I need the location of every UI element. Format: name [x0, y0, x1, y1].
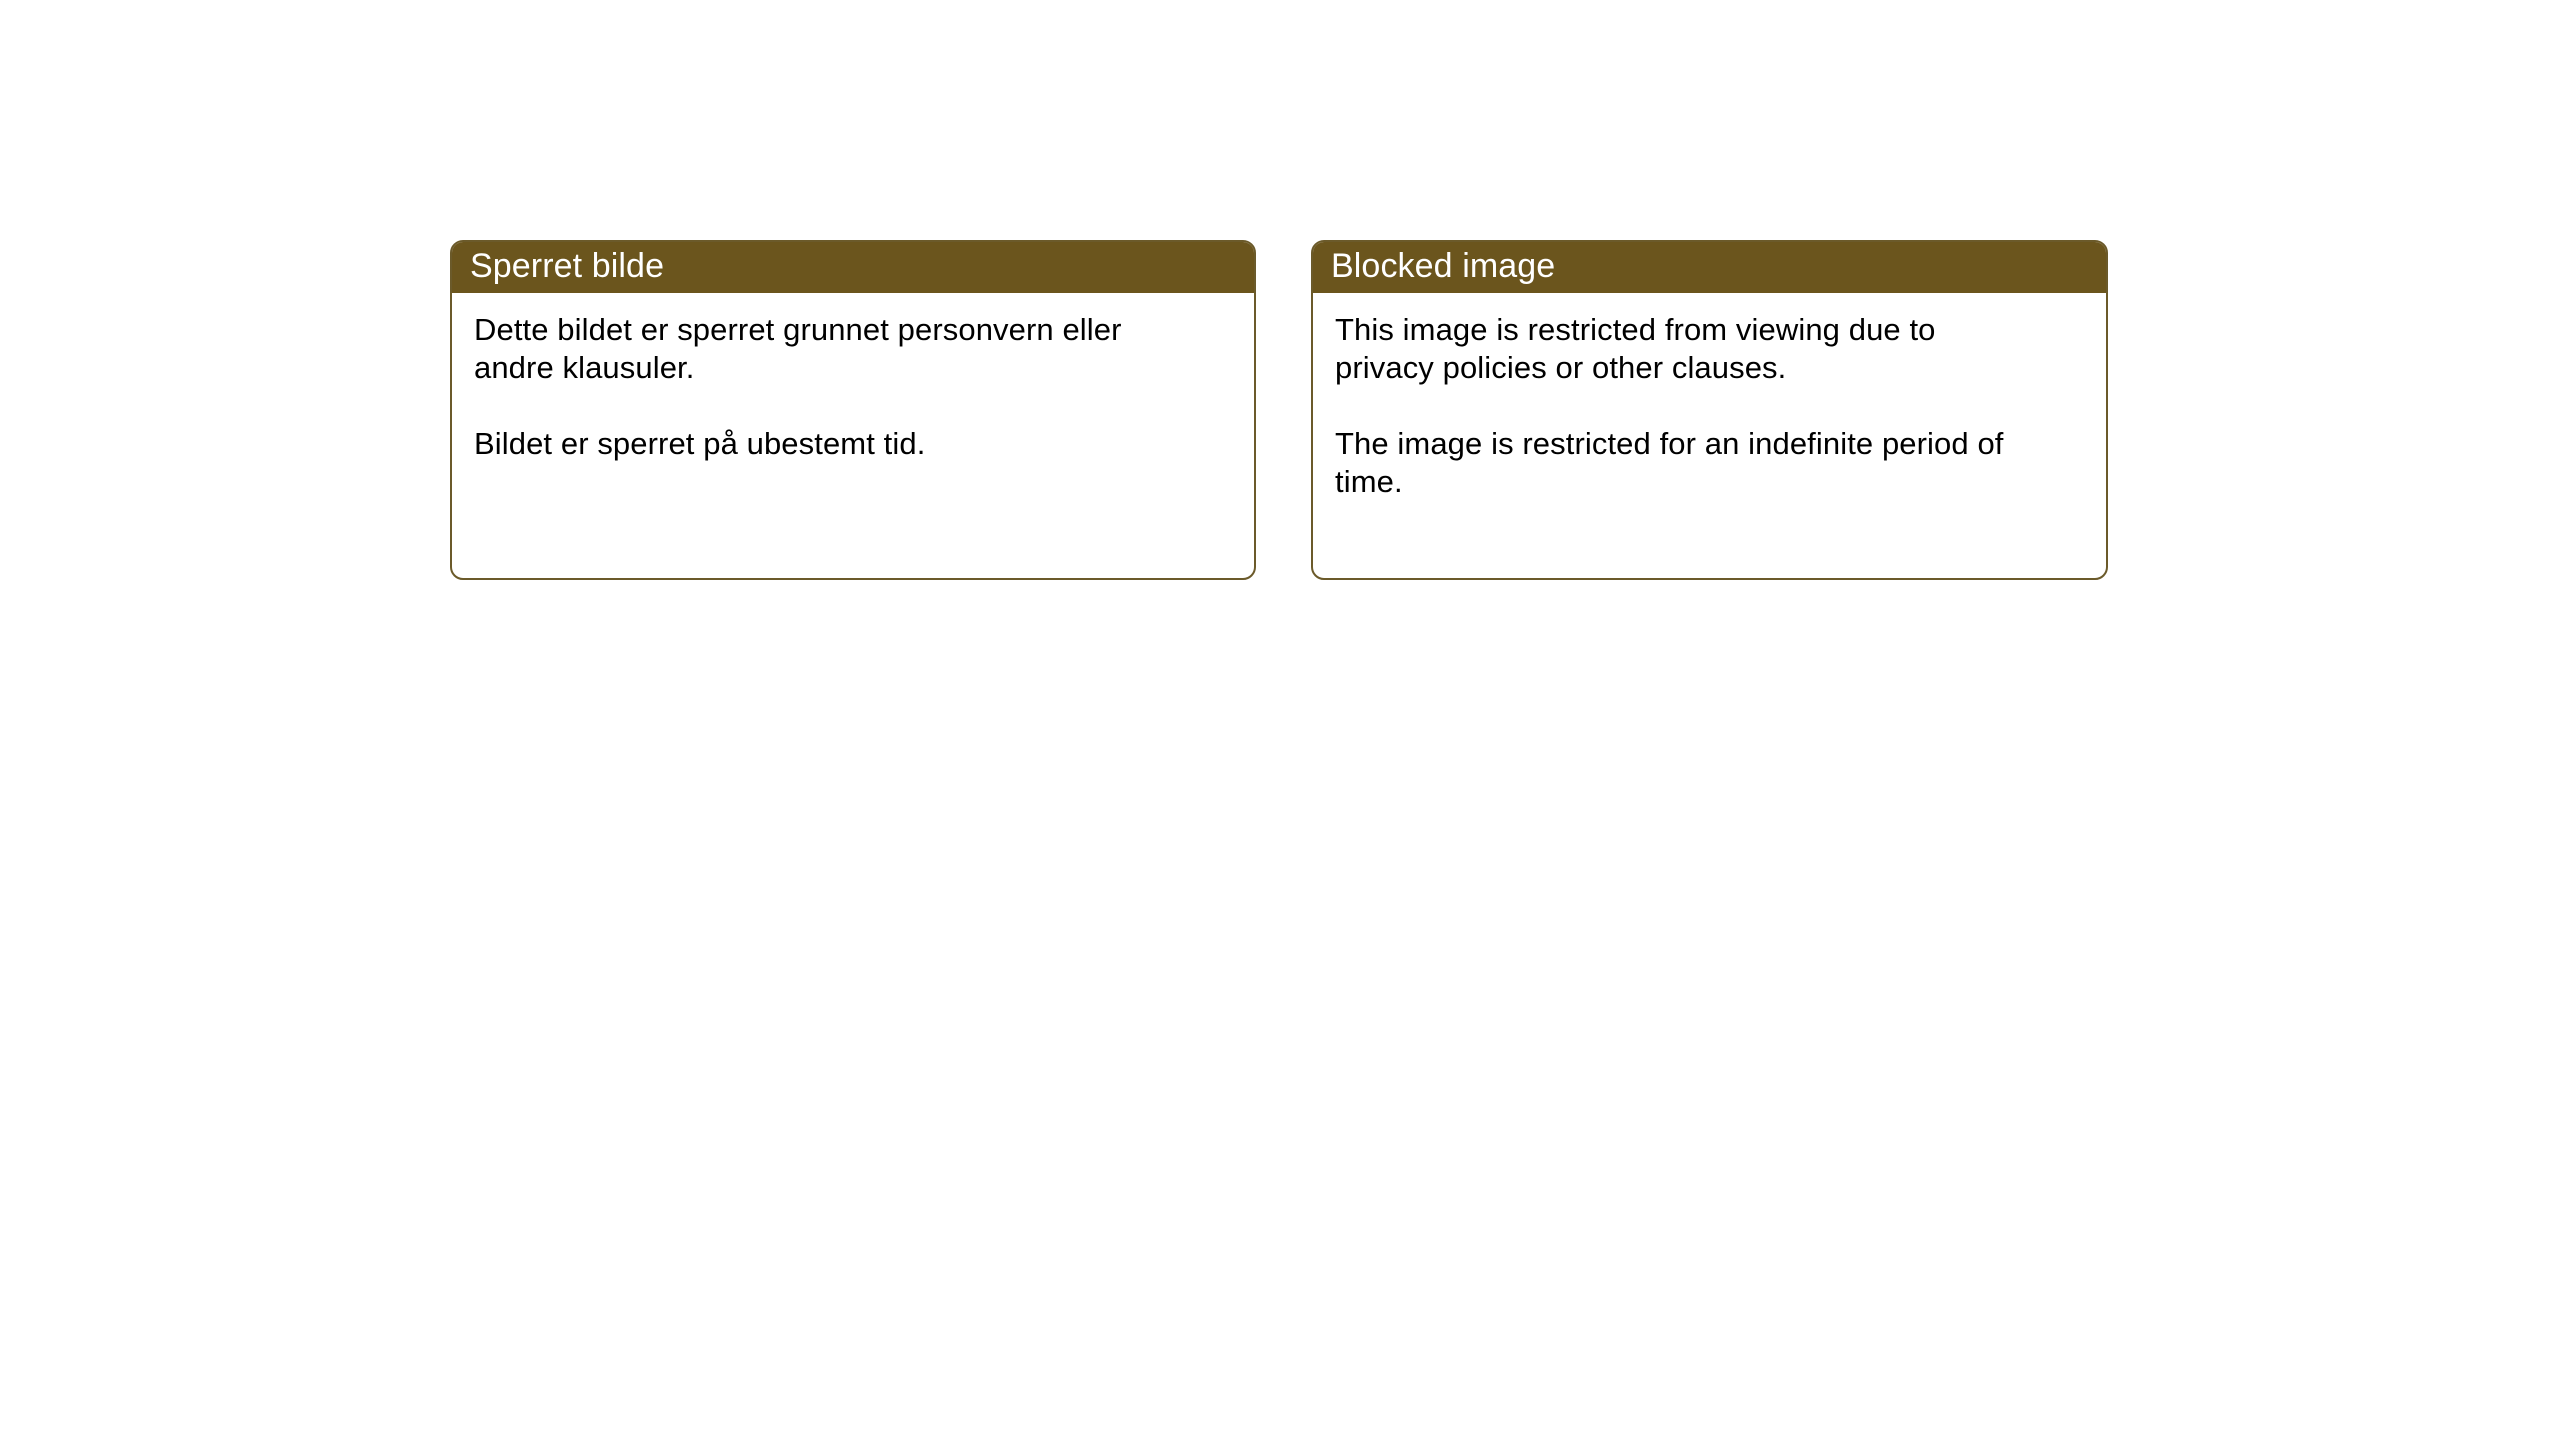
- card-body: Dette bildet er sperret grunnet personve…: [452, 293, 1254, 463]
- card-title: Blocked image: [1331, 247, 1555, 285]
- card-header-bar: Sperret bilde: [450, 240, 1256, 293]
- card-title: Sperret bilde: [470, 247, 664, 285]
- blocked-image-notice-card-english: Blocked image This image is restricted f…: [1311, 240, 2108, 580]
- blocked-image-notice-card-norwegian: Sperret bilde Dette bildet er sperret gr…: [450, 240, 1256, 580]
- card-message-secondary: Bildet er sperret på ubestemt tid.: [474, 425, 1174, 463]
- card-message-primary: This image is restricted from viewing du…: [1335, 311, 2035, 387]
- card-message-primary: Dette bildet er sperret grunnet personve…: [474, 311, 1174, 387]
- card-body: This image is restricted from viewing du…: [1313, 293, 2106, 501]
- card-header-bar: Blocked image: [1311, 240, 2108, 293]
- page-canvas: Sperret bilde Dette bildet er sperret gr…: [0, 0, 2560, 1440]
- card-message-secondary: The image is restricted for an indefinit…: [1335, 425, 2035, 501]
